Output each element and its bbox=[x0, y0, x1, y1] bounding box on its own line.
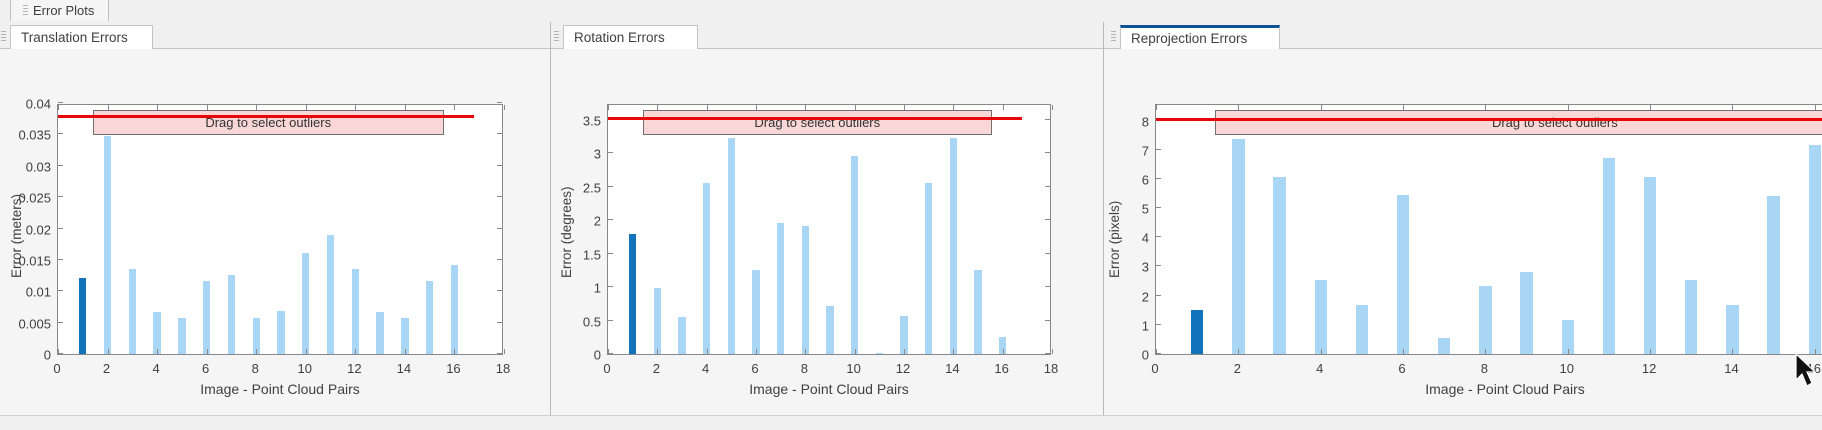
xtick-label: 6 bbox=[751, 361, 758, 376]
ytick-mark-right bbox=[497, 353, 502, 354]
xtick-label: 16 bbox=[446, 361, 460, 376]
ytick-label: 7 bbox=[1142, 143, 1149, 158]
ytick-label: 4 bbox=[1142, 231, 1149, 246]
ylabel-reprojection: Error (pixels) bbox=[1107, 200, 1122, 277]
xtick-mark bbox=[306, 349, 307, 354]
bar-translation-13[interactable] bbox=[376, 312, 383, 354]
bar-reprojection-1[interactable] bbox=[1191, 310, 1203, 354]
bar-rotation-5[interactable] bbox=[728, 138, 735, 354]
bar-translation-10[interactable] bbox=[302, 253, 309, 354]
ytick-mark-right bbox=[497, 165, 502, 166]
tab-error-plots-label: Error Plots bbox=[33, 3, 94, 18]
xtick-label: 14 bbox=[945, 361, 959, 376]
xtick-label: 0 bbox=[1151, 361, 1158, 376]
ytick-label: 0 bbox=[44, 348, 51, 363]
ytick-label: 1 bbox=[1142, 318, 1149, 333]
xtick-label: 2 bbox=[103, 361, 110, 376]
bar-translation-5[interactable] bbox=[178, 318, 185, 354]
ytick-mark-right bbox=[1045, 186, 1050, 187]
bar-rotation-1[interactable] bbox=[629, 234, 636, 354]
axes-reprojection bbox=[1155, 104, 1822, 355]
chart-translation: Drag to select outliers00.0050.010.0150.… bbox=[0, 48, 550, 430]
xtick-mark bbox=[608, 349, 609, 354]
xtick-mark bbox=[1403, 349, 1404, 354]
xtick-label: 2 bbox=[653, 361, 660, 376]
ytick-label: 0 bbox=[594, 348, 601, 363]
xtick-mark bbox=[1650, 349, 1651, 354]
xtick-label: 14 bbox=[397, 361, 411, 376]
bar-translation-3[interactable] bbox=[129, 269, 136, 354]
ytick-mark bbox=[58, 133, 63, 134]
xtick-label: 10 bbox=[298, 361, 312, 376]
xtick-mark bbox=[58, 349, 59, 354]
bar-reprojection-4[interactable] bbox=[1315, 280, 1327, 354]
ytick-label: 8 bbox=[1142, 114, 1149, 129]
xtick-label: 0 bbox=[53, 361, 60, 376]
xtick-mark bbox=[1321, 349, 1322, 354]
bar-translation-1[interactable] bbox=[79, 278, 86, 354]
ytick-mark-right bbox=[497, 228, 502, 229]
xtick-mark-top bbox=[608, 105, 609, 110]
bar-translation-15[interactable] bbox=[426, 281, 433, 354]
xtick-mark bbox=[1568, 349, 1569, 354]
ytick-label: 2.5 bbox=[583, 180, 601, 195]
tab-translation[interactable]: Translation Errors bbox=[10, 25, 153, 49]
bar-reprojection-8[interactable] bbox=[1479, 286, 1491, 354]
axes-translation bbox=[57, 104, 503, 355]
tab-rotation[interactable]: Rotation Errors bbox=[563, 25, 698, 49]
panel-translation: Translation ErrorsDrag to select outlier… bbox=[0, 22, 550, 430]
ytick-mark-right bbox=[497, 290, 502, 291]
bar-rotation-7[interactable] bbox=[777, 223, 784, 354]
xtick-mark-top bbox=[1052, 105, 1053, 110]
ytick-mark bbox=[1156, 207, 1161, 208]
bar-reprojection-5[interactable] bbox=[1356, 305, 1368, 354]
grip-icon[interactable] bbox=[23, 5, 28, 16]
ytick-label: 0.035 bbox=[18, 128, 51, 143]
ytick-label: 6 bbox=[1142, 172, 1149, 187]
ytick-mark bbox=[58, 165, 63, 166]
xtick-mark bbox=[1052, 349, 1053, 354]
bar-translation-6[interactable] bbox=[203, 281, 210, 354]
chart-rotation: Drag to select outliers00.511.522.533.50… bbox=[551, 48, 1103, 430]
bar-translation-9[interactable] bbox=[277, 311, 284, 354]
tab-error-plots[interactable]: Error Plots bbox=[10, 0, 109, 21]
panel-reprojection: Reprojection ErrorsDrag to select outlie… bbox=[1104, 22, 1822, 430]
ytick-mark bbox=[1156, 236, 1161, 237]
xtick-label: 8 bbox=[252, 361, 259, 376]
xtick-mark bbox=[1485, 349, 1486, 354]
xtick-mark bbox=[657, 349, 658, 354]
bar-reprojection-11[interactable] bbox=[1603, 158, 1615, 354]
ytick-mark-right bbox=[497, 196, 502, 197]
bar-rotation-13[interactable] bbox=[925, 183, 932, 354]
ytick-mark bbox=[1156, 178, 1161, 179]
bottom-status-strip bbox=[0, 415, 1822, 430]
ytick-mark bbox=[608, 186, 613, 187]
bar-translation-7[interactable] bbox=[228, 275, 235, 354]
ytick-label: 2 bbox=[594, 214, 601, 229]
bar-translation-12[interactable] bbox=[352, 269, 359, 354]
ytick-mark-right bbox=[497, 259, 502, 260]
ytick-mark bbox=[1156, 149, 1161, 150]
bar-rotation-14[interactable] bbox=[950, 138, 957, 354]
xtick-label: 8 bbox=[1481, 361, 1488, 376]
ytick-mark bbox=[1156, 295, 1161, 296]
xlabel-reprojection: Image - Point Cloud Pairs bbox=[1155, 381, 1822, 397]
ytick-mark-right bbox=[1045, 219, 1050, 220]
bar-reprojection-6[interactable] bbox=[1397, 195, 1409, 354]
bar-rotation-3[interactable] bbox=[678, 317, 685, 354]
xtick-mark-top bbox=[1003, 105, 1004, 110]
ytick-label: 3 bbox=[1142, 260, 1149, 275]
bar-rotation-6[interactable] bbox=[752, 270, 759, 354]
ytick-label: 5 bbox=[1142, 202, 1149, 217]
bar-rotation-15[interactable] bbox=[974, 270, 981, 354]
xtick-label: 10 bbox=[846, 361, 860, 376]
ytick-label: 0.03 bbox=[26, 159, 51, 174]
panel-rotation: Rotation ErrorsDrag to select outliers00… bbox=[551, 22, 1103, 430]
ytick-mark bbox=[1156, 265, 1161, 266]
ytick-mark bbox=[1156, 324, 1161, 325]
ytick-mark bbox=[58, 228, 63, 229]
bar-rotation-9[interactable] bbox=[826, 306, 833, 354]
xtick-mark bbox=[756, 349, 757, 354]
ytick-label: 0.02 bbox=[26, 222, 51, 237]
grip-icon[interactable] bbox=[1, 31, 6, 42]
xtick-label: 12 bbox=[347, 361, 361, 376]
threshold-line-translation[interactable] bbox=[58, 115, 474, 118]
outlier-slider-reprojection[interactable]: Drag to select outliers bbox=[1215, 110, 1822, 135]
bar-translation-4[interactable] bbox=[153, 312, 160, 354]
ytick-mark-right bbox=[1045, 253, 1050, 254]
xtick-label: 2 bbox=[1234, 361, 1241, 376]
xtick-label: 14 bbox=[1724, 361, 1738, 376]
xtick-mark bbox=[108, 349, 109, 354]
bar-reprojection-9[interactable] bbox=[1520, 272, 1532, 354]
xtick-label: 4 bbox=[702, 361, 709, 376]
ytick-label: 3 bbox=[594, 147, 601, 162]
threshold-line-reprojection[interactable] bbox=[1156, 118, 1822, 121]
xtick-mark bbox=[504, 349, 505, 354]
xtick-label: 6 bbox=[202, 361, 209, 376]
chart-reprojection: Drag to select outliers01234567802468101… bbox=[1104, 48, 1822, 430]
tab-reprojection-label: Reprojection Errors bbox=[1131, 31, 1247, 46]
xtick-label: 6 bbox=[1398, 361, 1405, 376]
xtick-label: 4 bbox=[1316, 361, 1323, 376]
ytick-mark bbox=[58, 102, 63, 103]
tabbar-translation: Translation Errors bbox=[0, 22, 550, 49]
ytick-mark-right bbox=[1045, 286, 1050, 287]
ytick-label: 1.5 bbox=[583, 247, 601, 262]
outer-tab-strip: Error Plots bbox=[0, 0, 1822, 23]
xlabel-translation: Image - Point Cloud Pairs bbox=[57, 381, 503, 397]
ytick-label: 1 bbox=[594, 281, 601, 296]
ytick-mark bbox=[608, 253, 613, 254]
bar-reprojection-15[interactable] bbox=[1767, 196, 1779, 354]
tabbar-rotation: Rotation Errors bbox=[551, 22, 1103, 49]
tabbar-reprojection: Reprojection Errors bbox=[1104, 22, 1822, 49]
threshold-line-rotation[interactable] bbox=[608, 117, 1022, 120]
bar-reprojection-14[interactable] bbox=[1726, 305, 1738, 354]
tab-translation-label: Translation Errors bbox=[21, 30, 128, 45]
ylabel-translation: Error (meters) bbox=[9, 194, 24, 278]
bar-reprojection-12[interactable] bbox=[1644, 177, 1656, 354]
tab-reprojection[interactable]: Reprojection Errors bbox=[1120, 25, 1280, 49]
ytick-mark-right bbox=[1045, 353, 1050, 354]
xtick-mark bbox=[904, 349, 905, 354]
ytick-mark-right bbox=[1045, 152, 1050, 153]
axes-rotation bbox=[607, 104, 1051, 355]
xtick-mark bbox=[707, 349, 708, 354]
xtick-label: 16 bbox=[994, 361, 1008, 376]
xtick-mark bbox=[855, 349, 856, 354]
ytick-label: 0 bbox=[1142, 348, 1149, 363]
ytick-mark bbox=[608, 286, 613, 287]
ytick-label: 0.04 bbox=[26, 97, 51, 112]
ytick-mark-right bbox=[497, 322, 502, 323]
xtick-mark-top bbox=[1156, 105, 1157, 110]
xtick-label: 18 bbox=[496, 361, 510, 376]
arrow-cursor-icon bbox=[1790, 352, 1820, 392]
ytick-mark-right bbox=[1045, 320, 1050, 321]
xtick-mark bbox=[1156, 349, 1157, 354]
ytick-mark bbox=[608, 320, 613, 321]
xtick-mark-top bbox=[504, 105, 505, 110]
bar-translation-2[interactable] bbox=[104, 136, 111, 354]
xtick-label: 18 bbox=[1044, 361, 1058, 376]
ytick-label: 0.5 bbox=[583, 314, 601, 329]
xtick-label: 12 bbox=[1642, 361, 1656, 376]
ytick-label: 3.5 bbox=[583, 113, 601, 128]
ytick-mark bbox=[58, 290, 63, 291]
xtick-label: 8 bbox=[801, 361, 808, 376]
bar-translation-11[interactable] bbox=[327, 235, 334, 354]
bar-rotation-11[interactable] bbox=[876, 353, 883, 354]
xtick-label: 12 bbox=[896, 361, 910, 376]
xtick-mark bbox=[1732, 349, 1733, 354]
xtick-mark bbox=[157, 349, 158, 354]
bar-translation-16[interactable] bbox=[451, 265, 458, 354]
ytick-mark bbox=[58, 259, 63, 260]
xtick-label: 4 bbox=[152, 361, 159, 376]
xtick-mark bbox=[405, 349, 406, 354]
ytick-mark bbox=[608, 219, 613, 220]
bar-reprojection-2[interactable] bbox=[1232, 139, 1244, 354]
ytick-mark bbox=[58, 322, 63, 323]
ytick-mark-right bbox=[497, 133, 502, 134]
xtick-label: 0 bbox=[603, 361, 610, 376]
ytick-label: 0.005 bbox=[18, 316, 51, 331]
bar-rotation-10[interactable] bbox=[851, 156, 858, 354]
bar-rotation-2[interactable] bbox=[654, 288, 661, 354]
ytick-mark bbox=[58, 196, 63, 197]
bar-reprojection-13[interactable] bbox=[1685, 280, 1697, 354]
ytick-label: 0.01 bbox=[26, 285, 51, 300]
outlier-slider-rotation[interactable]: Drag to select outliers bbox=[643, 110, 992, 135]
bar-reprojection-3[interactable] bbox=[1273, 177, 1285, 354]
ytick-mark-right bbox=[1045, 119, 1050, 120]
bar-rotation-4[interactable] bbox=[703, 183, 710, 354]
ylabel-rotation: Error (degrees) bbox=[559, 186, 574, 278]
grip-icon[interactable] bbox=[554, 31, 559, 42]
tab-rotation-label: Rotation Errors bbox=[574, 30, 665, 45]
bar-reprojection-7[interactable] bbox=[1438, 338, 1450, 354]
xtick-mark bbox=[953, 349, 954, 354]
ytick-mark bbox=[608, 152, 613, 153]
ytick-label: 2 bbox=[1142, 289, 1149, 304]
xtick-mark bbox=[1003, 349, 1004, 354]
xtick-mark bbox=[256, 349, 257, 354]
bar-rotation-8[interactable] bbox=[802, 226, 809, 355]
bar-reprojection-16[interactable] bbox=[1809, 145, 1821, 354]
grip-icon[interactable] bbox=[1111, 31, 1116, 42]
xtick-mark-top bbox=[58, 105, 59, 110]
xtick-mark bbox=[355, 349, 356, 354]
xtick-mark bbox=[805, 349, 806, 354]
ytick-mark-right bbox=[497, 102, 502, 103]
xlabel-rotation: Image - Point Cloud Pairs bbox=[607, 381, 1051, 397]
xtick-mark-top bbox=[454, 105, 455, 110]
xtick-mark bbox=[1238, 349, 1239, 354]
xtick-label: 10 bbox=[1560, 361, 1574, 376]
xtick-mark bbox=[454, 349, 455, 354]
xtick-mark bbox=[207, 349, 208, 354]
